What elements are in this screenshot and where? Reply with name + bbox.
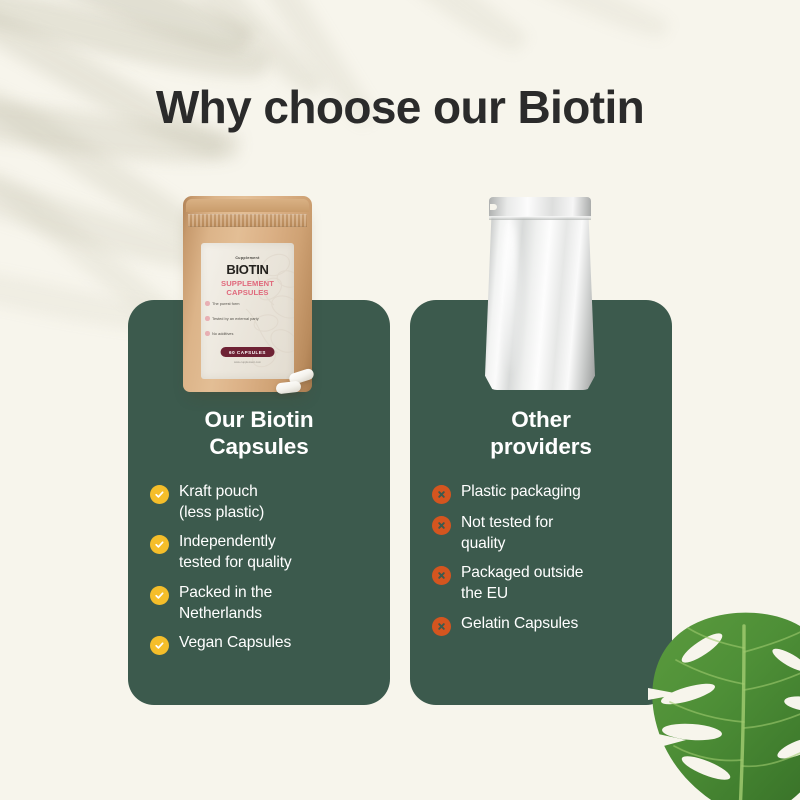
cross-icon — [432, 617, 451, 636]
page-title: Why choose our Biotin — [0, 80, 800, 134]
label-capsule-count-badge: 60 CAPSULES — [220, 347, 275, 357]
list-item: Kraft pouch (less plastic) — [150, 482, 368, 523]
label-brand: Cupplement — [201, 256, 294, 260]
check-icon — [150, 485, 169, 504]
list-item-label: Plastic packaging — [461, 482, 581, 503]
label-fine-print: www.cupplement.com — [201, 361, 294, 364]
kraft-pouch-image: Cupplement BIOTIN SUPPLEMENT CAPSULES Th… — [183, 196, 312, 392]
cross-icon — [432, 516, 451, 535]
card-title: Our Biotin Capsules — [150, 406, 368, 460]
list-item-label: Packed in the Netherlands — [179, 583, 272, 624]
label-feature: The purest form — [212, 301, 239, 306]
silver-pouch-image — [485, 197, 595, 390]
list-item-label: Vegan Capsules — [179, 633, 291, 654]
check-icon — [150, 586, 169, 605]
list-item: Not tested for quality — [432, 513, 650, 554]
label-feature: Tested by an external party — [212, 316, 259, 321]
poster-canvas: Why choose our Biotin Cupplement — [0, 0, 800, 800]
list-item-label: Not tested for quality — [461, 513, 553, 554]
silver-pouch-tear-notch — [490, 204, 497, 210]
label-subtitle: SUPPLEMENT CAPSULES — [201, 279, 294, 297]
list-item-label: Independently tested for quality — [179, 532, 292, 573]
kraft-pouch-label: Cupplement BIOTIN SUPPLEMENT CAPSULES Th… — [201, 243, 294, 379]
silver-pouch-highlight — [503, 223, 519, 373]
silver-pouch-seam — [489, 216, 591, 220]
list-item: Packed in the Netherlands — [150, 583, 368, 624]
monstera-leaf — [640, 608, 800, 800]
kraft-pouch-top-fold — [186, 199, 309, 212]
label-title: BIOTIN — [201, 262, 294, 277]
silver-pouch-top-fold — [489, 197, 591, 217]
list-item-label: Gelatin Capsules — [461, 614, 578, 635]
check-icon — [150, 636, 169, 655]
check-icon — [150, 535, 169, 554]
drawback-list: Plastic packaging Not tested for quality… — [432, 482, 650, 636]
list-item-label: Packaged outside the EU — [461, 563, 583, 604]
list-item: Vegan Capsules — [150, 633, 368, 655]
list-item: Gelatin Capsules — [432, 614, 650, 636]
benefit-list: Kraft pouch (less plastic) Independently… — [150, 482, 368, 655]
silver-pouch-body — [485, 212, 595, 390]
kraft-pouch-zipper — [188, 214, 307, 227]
list-item: Independently tested for quality — [150, 532, 368, 573]
cross-icon — [432, 566, 451, 585]
card-title: Other providers — [432, 406, 650, 460]
list-item: Plastic packaging — [432, 482, 650, 504]
list-item: Packaged outside the EU — [432, 563, 650, 604]
list-item-label: Kraft pouch (less plastic) — [179, 482, 264, 523]
cross-icon — [432, 485, 451, 504]
label-feature: No additives — [212, 331, 233, 336]
